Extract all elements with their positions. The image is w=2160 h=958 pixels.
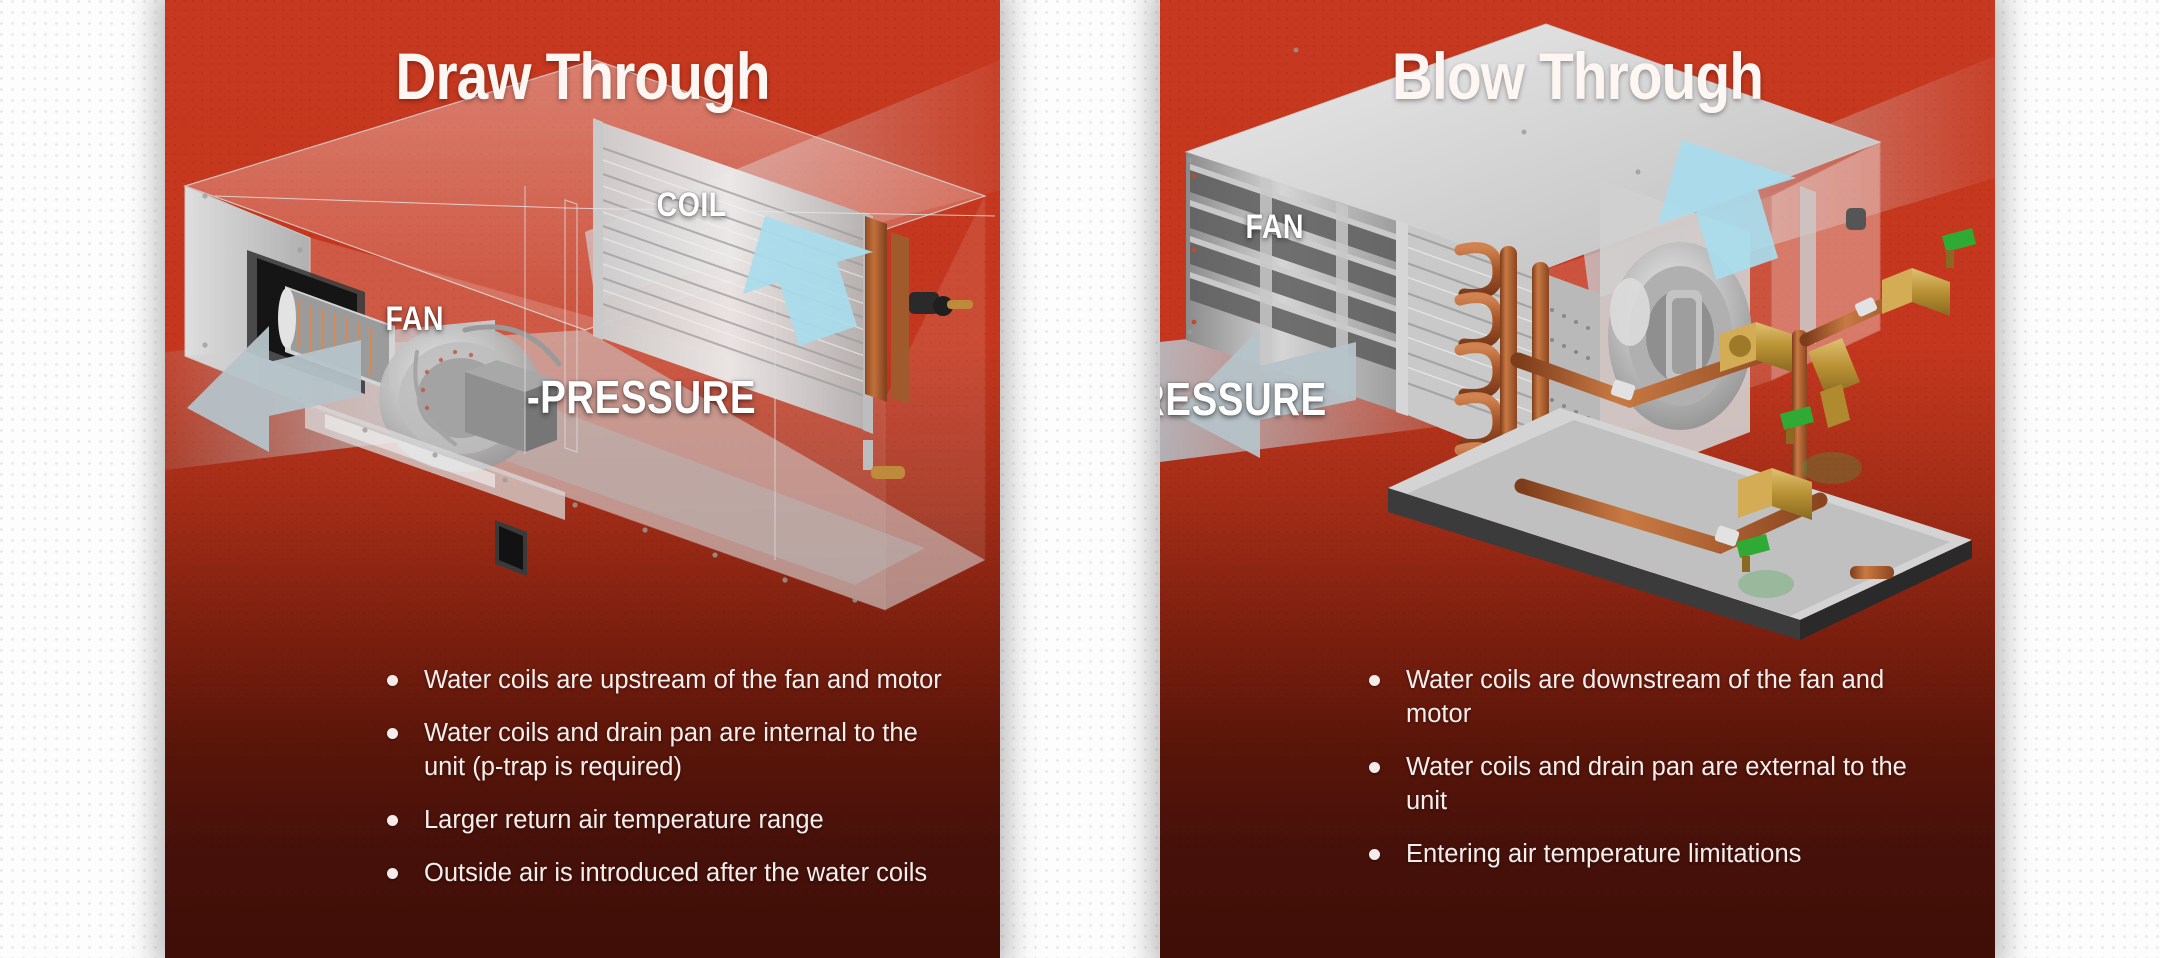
bullet-text: Water coils and drain pan are internal t… [424,717,960,785]
slide-panel-draw-through: Draw Through [165,0,1000,958]
blow-fan-arrow-label: FAN [1246,208,1304,247]
draw-pressure-label: -PRESSURE [527,370,756,424]
list-item: Entering air temperature limitations [1369,838,1955,872]
page-title-draw-through: Draw Through [223,38,941,114]
bullet-dot-icon [1369,849,1380,860]
bullet-dot-icon [387,728,398,739]
bullet-text: Larger return air temperature range [424,804,824,838]
list-item: Water coils and drain pan are internal t… [387,717,960,785]
bullet-text: Entering air temperature limitations [1406,838,1801,872]
bullet-text: Water coils are downstream of the fan an… [1406,664,1955,732]
bullet-text: Water coils are upstream of the fan and … [424,664,942,698]
draw-through-bullet-list: Water coils are upstream of the fan and … [165,664,1000,910]
bullet-text: Outside air is introduced after the wate… [424,857,927,891]
draw-fan-arrow-label: FAN [386,300,444,339]
bullet-dot-icon [387,815,398,826]
list-item: Water coils are downstream of the fan an… [1369,664,1955,732]
list-item: Larger return air temperature range [387,804,960,838]
bullet-dot-icon [1369,762,1380,773]
bullet-dot-icon [387,675,398,686]
list-item: Outside air is introduced after the wate… [387,857,960,891]
slide-panel-blow-through: Blow Through [1160,0,1995,958]
blow-pressure-label: +PRESSURE [1160,372,1327,426]
bullet-dot-icon [1369,675,1380,686]
bullet-dot-icon [387,868,398,879]
list-item: Water coils and drain pan are external t… [1369,751,1955,819]
draw-coil-arrow-label: COIL [657,186,727,225]
blow-through-bullet-list: Water coils are downstream of the fan an… [1160,664,1995,891]
bullet-text: Water coils and drain pan are external t… [1406,751,1955,819]
page-title-blow-through: Blow Through [1218,38,1936,114]
list-item: Water coils are upstream of the fan and … [387,664,960,698]
